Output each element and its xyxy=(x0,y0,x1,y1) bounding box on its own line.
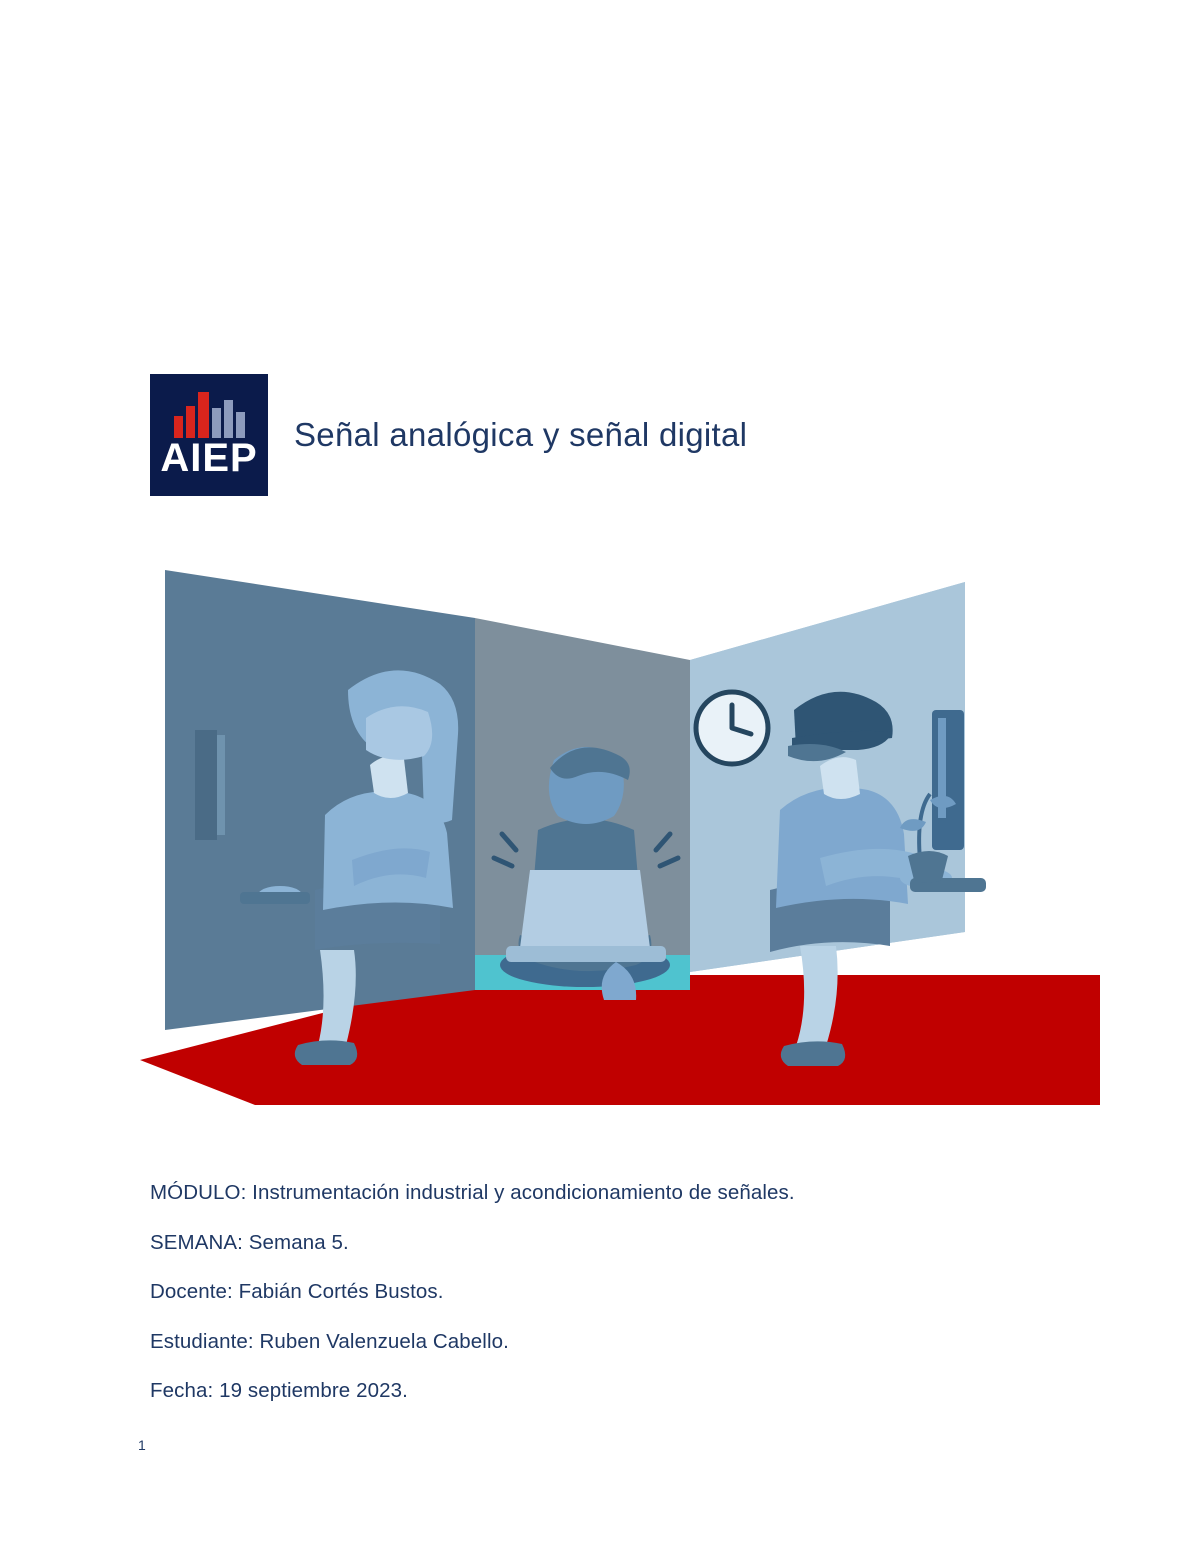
document-page: AIEP Señal analógica y señal digital xyxy=(0,0,1200,1553)
title-block: AIEP Señal analógica y señal digital xyxy=(150,370,1050,500)
page-number: 1 xyxy=(138,1437,146,1453)
aiep-wordmark: AIEP xyxy=(150,436,268,481)
meta-line-docente: Docente: Fabián Cortés Bustos. xyxy=(150,1282,1050,1303)
meta-line-semana: SEMANA: Semana 5. xyxy=(150,1233,1050,1254)
meta-line-fecha: Fecha: 19 septiembre 2023. xyxy=(150,1381,1050,1402)
page-title: Señal analógica y señal digital xyxy=(294,416,747,454)
cover-illustration xyxy=(120,560,1100,1120)
aiep-logo: AIEP xyxy=(150,374,268,496)
document-meta: MÓDULO: Instrumentación industrial y aco… xyxy=(150,1183,1050,1431)
logo-bars-icon xyxy=(174,392,246,438)
meta-line-estudiante: Estudiante: Ruben Valenzuela Cabello. xyxy=(150,1332,1050,1353)
meta-line-modulo: MÓDULO: Instrumentación industrial y aco… xyxy=(150,1183,1050,1204)
